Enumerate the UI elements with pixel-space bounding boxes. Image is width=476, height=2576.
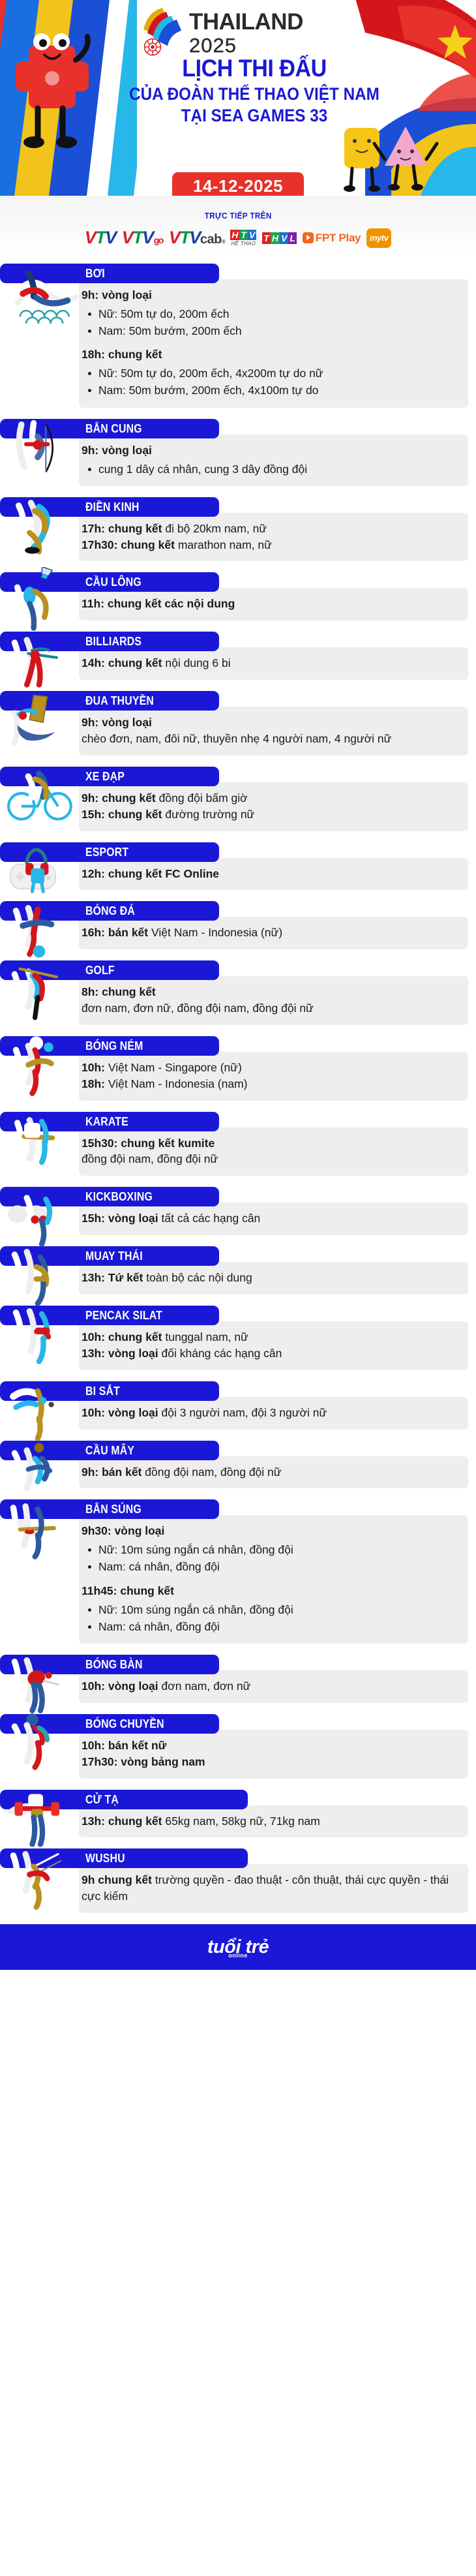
sport-events-billiards: 14h: chung kết nội dung 6 bi [79, 647, 468, 680]
vtvcab-logo: VTVcab® [169, 228, 224, 248]
sport-header-cau-may: CẦU MÂY [0, 1441, 219, 1460]
sport-events-bong-ban: 10h: vòng loại đơn nam, đơn nữ [79, 1670, 468, 1703]
sport-block-bong-ban: BÓNG BÀN10h: vòng loại đơn nam, đơn nữ [0, 1655, 476, 1703]
sport-name-label: BÓNG CHUYỀN [85, 1714, 164, 1734]
sport-header-bong-ban: BÓNG BÀN [0, 1655, 219, 1674]
date-badge: 14-12-2025 [172, 172, 304, 196]
sport-header-wushu: WUSHU [0, 1848, 248, 1868]
event-line: 11h: chung kết các nội dung [82, 596, 459, 612]
event-line: đơn nam, đơn nữ, đồng đội nam, đồng đội … [82, 1000, 459, 1017]
sport-block-cu-ta: CỬ TẠ13h: chung kết 65kg nam, 58kg nữ, 7… [0, 1790, 476, 1838]
event-group: 9h30: vòng loạiNữ: 10m súng ngắn cá nhân… [82, 1523, 459, 1575]
sport-events-bong-nem: 10h: Việt Nam - Singapore (nữ)18h: Việt … [79, 1052, 468, 1101]
event-line-bold: 10h: bán kết nữ [82, 1739, 166, 1752]
sport-block-bong-da: BÓNG ĐÁ16h: bán kết Việt Nam - Indonesia… [0, 901, 476, 949]
play-icon [303, 232, 314, 243]
sport-block-cau-may: CẦU MÂY9h: bán kết đồng đội nam, đồng độ… [0, 1441, 476, 1489]
event-line-detail: chèo đơn, nam, đôi nữ, thuyền nhẹ 4 ngườ… [82, 732, 391, 745]
event-bullet-item: Nữ: 50m tự do, 200m ếch, 4x200m tự do nữ [82, 365, 459, 382]
event-line: 15h30: chung kết kumite [82, 1135, 459, 1152]
event-lead-text: 9h: vòng loại [82, 444, 152, 457]
event-time-heading: 9h: vòng loại [82, 442, 459, 459]
event-lead-text: 9h: vòng loại [82, 288, 152, 301]
sport-name-label: BẮN SÚNG [85, 1499, 141, 1519]
event-line-bold: 17h30: vòng bảng nam [82, 1755, 205, 1768]
event-line-detail: đội 3 người nam, đội 3 người nữ [158, 1406, 327, 1419]
broadcaster-logo-row: VTV VTVgo VTVcab® HTV HỂ THAO THVL FPT P… [0, 228, 476, 248]
event-line-detail: đồng đội bấm giờ [156, 791, 248, 805]
sport-name-label: MUAY THÁI [85, 1246, 143, 1266]
event-line: 10h: vòng loại đơn nam, đơn nữ [82, 1678, 459, 1694]
thvl-logo: THVL [262, 232, 297, 244]
sport-header-kickboxing: KICKBOXING [0, 1187, 219, 1206]
schedule-list: BƠI9h: vòng loạiNữ: 50m tự do, 200m ếchN… [0, 257, 476, 1913]
sport-block-bong-nem: BÓNG NÉM10h: Việt Nam - Singapore (nữ)18… [0, 1036, 476, 1101]
event-line-detail: đồng đội nam, đồng đội nữ [82, 1152, 218, 1165]
sport-events-dien-kinh: 17h: chung kết đi bộ 20km nam, nữ17h30: … [79, 513, 468, 562]
event-time-heading: 18h: chung kết [82, 346, 459, 363]
htv-subtitle: HỂ THAO [231, 241, 256, 247]
sport-name-label: PENCAK SILAT [85, 1306, 162, 1325]
sport-name-label: WUSHU [85, 1848, 125, 1868]
event-line-detail: 65kg nam, 58kg nữ, 71kg nam [162, 1815, 320, 1828]
event-line-bold: 13h: chung kết [82, 1815, 162, 1828]
event-lead-text: 18h: chung kết [82, 348, 162, 361]
event-group: 9h: vòng loạicung 1 dây cá nhân, cung 3 … [82, 442, 459, 478]
event-bullet-list: Nữ: 50m tự do, 200m ếchNam: 50m bướm, 20… [82, 305, 459, 340]
event-line: 13h: chung kết 65kg nam, 58kg nữ, 71kg n… [82, 1813, 459, 1830]
sport-block-bong-chuyen: BÓNG CHUYỀN10h: bán kết nữ17h30: vòng bả… [0, 1714, 476, 1779]
tuoitre-logo: tuổi trẻ online [207, 1938, 269, 1957]
sport-header-esport: ESPORT [0, 842, 219, 862]
sport-header-xe-dap: XE ĐẠP [0, 767, 219, 786]
sport-block-dua-thuyen: ĐUA THUYỀN9h: vòng loạichèo đơn, nam, đô… [0, 691, 476, 756]
sport-name-label: BÓNG ĐÁ [85, 901, 135, 921]
event-line-bold: 16h: bán kết [82, 926, 148, 939]
event-line: 9h: bán kết đồng đội nam, đồng đội nữ [82, 1464, 459, 1480]
event-line-bold: 9h: bán kết [82, 1465, 141, 1479]
sport-header-ban-sung: BẮN SÚNG [0, 1499, 219, 1519]
sport-name-label: CẦU MÂY [85, 1441, 134, 1460]
event-line-detail: nội dung 6 bi [162, 656, 231, 669]
event-line-detail: đơn nam, đơn nữ [158, 1679, 251, 1693]
tuoitre-online-label: online [226, 1953, 250, 1959]
event-bullet-item: Nam: 50m bướm, 200m ếch [82, 322, 459, 339]
hero-header: THAILAND 2025 LỊCH THI ĐẤU CỦA ĐOÀN THỂ … [0, 0, 476, 196]
sport-block-ban-sung: BẮN SÚNG9h30: vòng loạiNữ: 10m súng ngắn… [0, 1499, 476, 1644]
htv-thethao-logo: HTV HỂ THAO [230, 230, 256, 247]
event-line-bold: 13h: vòng loại [82, 1347, 158, 1360]
sport-block-golf: GOLF8h: chung kếtđơn nam, đơn nữ, đồng đ… [0, 960, 476, 1025]
svg-text:THAILAND: THAILAND [189, 9, 303, 35]
sport-events-ban-sung: 9h30: vòng loạiNữ: 10m súng ngắn cá nhân… [79, 1515, 468, 1644]
event-line: chèo đơn, nam, đôi nữ, thuyền nhẹ 4 ngườ… [82, 731, 459, 747]
event-lead-text: 9h30: vòng loại [82, 1524, 164, 1537]
sport-name-label: BẮN CUNG [85, 419, 142, 438]
sport-header-billiards: BILLIARDS [0, 632, 219, 651]
event-line: 9h: chung kết đồng đội bấm giờ [82, 790, 459, 806]
event-line-bold: 10h: vòng loại [82, 1406, 158, 1419]
sport-events-bi-sat: 10h: vòng loại đội 3 người nam, đội 3 ng… [79, 1397, 468, 1430]
event-bullet-item: Nam: cá nhân, đồng đội [82, 1618, 459, 1635]
sea-games-logo: THAILAND 2025 [138, 5, 334, 56]
event-line: 17h30: chung kết marathon nam, nữ [82, 537, 459, 553]
event-line-bold: 15h30: chung kết kumite [82, 1137, 215, 1150]
event-bullet-item: Nam: cá nhân, đồng đội [82, 1558, 459, 1575]
event-line-detail: đồng đội nam, đồng đội nữ [141, 1465, 281, 1479]
event-line-bold: 18h: [82, 1077, 105, 1090]
sport-events-boi: 9h: vòng loạiNữ: 50m tự do, 200m ếchNam:… [79, 279, 468, 408]
event-line-detail: Việt Nam - Singapore (nữ) [105, 1061, 242, 1074]
sport-events-wushu: 9h chung kết trường quyền - đao thuật - … [79, 1864, 468, 1913]
sport-events-bong-da: 16h: bán kết Việt Nam - Indonesia (nữ) [79, 917, 468, 949]
sport-name-label: GOLF [85, 960, 115, 980]
sport-header-bi-sat: BI SẮT [0, 1381, 219, 1401]
infographic-page: THAILAND 2025 LỊCH THI ĐẤU CỦA ĐOÀN THỂ … [0, 0, 476, 1970]
event-line-detail: đi bộ 20km nam, nữ [162, 522, 267, 535]
event-line: 16h: bán kết Việt Nam - Indonesia (nữ) [82, 925, 459, 941]
sport-block-cau-long: CẦU LÔNG11h: chung kết các nội dung [0, 572, 476, 621]
event-line: 15h: chung kết đường trường nữ [82, 806, 459, 823]
event-group: 11h45: chung kếtNữ: 10m súng ngắn cá nhâ… [82, 1583, 459, 1635]
event-line-detail: toàn bộ các nội dung [143, 1271, 252, 1284]
sport-header-cu-ta: CỬ TẠ [0, 1790, 248, 1809]
sport-name-label: BƠI [85, 264, 105, 283]
sport-events-karate: 15h30: chung kết kumiteđồng đội nam, đồn… [79, 1127, 468, 1176]
sport-block-bi-sat: BI SẮT10h: vòng loại đội 3 người nam, độ… [0, 1381, 476, 1430]
fpt-play-logo: FPT Play [303, 232, 361, 245]
sport-block-kickboxing: KICKBOXING15h: vòng loại tất cả các hạng… [0, 1187, 476, 1235]
event-bullet-item: Nữ: 50m tự do, 200m ếch [82, 305, 459, 322]
sport-header-cau-long: CẦU LÔNG [0, 572, 219, 592]
sport-events-muay-thai: 13h: Tứ kết toàn bộ các nội dung [79, 1262, 468, 1295]
vtv-logo: VTV [85, 228, 116, 248]
sport-header-bong-nem: BÓNG NÉM [0, 1036, 219, 1056]
event-line: 13h: Tứ kết toàn bộ các nội dung [82, 1270, 459, 1286]
event-line-detail: tất cả các hạng cân [158, 1212, 261, 1225]
sport-name-label: KARATE [85, 1112, 128, 1131]
event-line: 18h: Việt Nam - Indonesia (nam) [82, 1076, 459, 1092]
sport-events-cau-may: 9h: bán kết đồng đội nam, đồng đội nữ [79, 1456, 468, 1489]
event-time-heading: 11h45: chung kết [82, 1583, 459, 1599]
sport-block-esport: ESPORT12h: chung kết FC Online [0, 842, 476, 891]
svg-text:2025: 2025 [189, 34, 237, 56]
event-line: 12h: chung kết FC Online [82, 866, 459, 882]
sport-name-label: ĐIỀN KINH [85, 497, 140, 517]
sport-header-boi: BƠI [0, 264, 219, 283]
sport-block-karate: KARATE15h30: chung kết kumiteđồng đội na… [0, 1112, 476, 1176]
sport-block-dien-kinh: ĐIỀN KINH17h: chung kết đi bộ 20km nam, … [0, 497, 476, 562]
event-line-bold: 9h: vòng loại [82, 716, 152, 729]
sport-header-bong-chuyen: BÓNG CHUYỀN [0, 1714, 219, 1734]
sport-events-dua-thuyen: 9h: vòng loạichèo đơn, nam, đôi nữ, thuy… [79, 707, 468, 756]
event-line: 10h: bán kết nữ [82, 1738, 459, 1754]
event-line-bold: 10h: vòng loại [82, 1679, 158, 1693]
event-line: 10h: Việt Nam - Singapore (nữ) [82, 1060, 459, 1076]
sport-name-label: BÓNG BÀN [85, 1655, 143, 1674]
event-line-bold: 17h30: chung kết [82, 538, 175, 551]
broadcast-strip: TRỰC TIẾP TRÊN VTV VTVgo VTVcab® HTV HỂ … [0, 196, 476, 257]
sport-header-pencak-silat: PENCAK SILAT [0, 1306, 219, 1325]
sport-name-label: BÓNG NÉM [85, 1036, 143, 1056]
event-line: 14h: chung kết nội dung 6 bi [82, 655, 459, 671]
event-line-bold: 15h: vòng loại [82, 1212, 158, 1225]
event-line-bold: 17h: chung kết [82, 522, 162, 535]
event-line: 9h chung kết trường quyền - đao thuật - … [82, 1872, 459, 1905]
sport-header-dua-thuyen: ĐUA THUYỀN [0, 691, 219, 711]
mytv-logo: mytv [366, 228, 391, 248]
page-title: LỊCH THI ĐẤU [80, 56, 428, 80]
event-line-detail: Việt Nam - Indonesia (nữ) [148, 926, 282, 939]
event-line: 17h: chung kết đi bộ 20km nam, nữ [82, 521, 459, 537]
sport-block-muay-thai: MUAY THÁI13h: Tứ kết toàn bộ các nội dun… [0, 1246, 476, 1295]
sport-header-ban-cung: BẮN CUNG [0, 419, 219, 438]
event-lead-text: 11h45: chung kết [82, 1584, 174, 1597]
sport-header-golf: GOLF [0, 960, 219, 980]
sport-header-karate: KARATE [0, 1112, 219, 1131]
event-line-detail: đối kháng các hạng cân [158, 1347, 282, 1360]
event-bullet-list: cung 1 dây cá nhân, cung 3 dây đồng đội [82, 461, 459, 478]
event-line: đồng đội nam, đồng đội nữ [82, 1151, 459, 1167]
event-line-detail: Việt Nam - Indonesia (nam) [105, 1077, 248, 1090]
footer: tuổi trẻ online [0, 1924, 476, 1970]
event-line-bold: 13h: Tứ kết [82, 1271, 143, 1284]
sport-header-bong-da: BÓNG ĐÁ [0, 901, 219, 921]
event-bullet-item: cung 1 dây cá nhân, cung 3 dây đồng đội [82, 461, 459, 478]
sport-header-dien-kinh: ĐIỀN KINH [0, 497, 219, 517]
sport-name-label: XE ĐẠP [85, 767, 125, 786]
event-group: 9h: vòng loạiNữ: 50m tự do, 200m ếchNam:… [82, 287, 459, 339]
sport-events-pencak-silat: 10h: chung kết tunggal nam, nữ13h: vòng … [79, 1321, 468, 1370]
sport-name-label: BILLIARDS [85, 632, 141, 651]
event-time-heading: 9h: vòng loại [82, 287, 459, 303]
page-subtitle-2: TẠI SEA GAMES 33 [84, 106, 424, 126]
event-time-heading: 9h30: vòng loại [82, 1523, 459, 1539]
event-line-bold: 8h: chung kết [82, 985, 156, 998]
event-line-detail: tunggal nam, nữ [162, 1330, 248, 1343]
sport-events-esport: 12h: chung kết FC Online [79, 858, 468, 891]
sport-block-billiards: BILLIARDS14h: chung kết nội dung 6 bi [0, 632, 476, 680]
event-line-detail: đơn nam, đơn nữ, đồng đội nam, đồng đội … [82, 1002, 314, 1015]
event-line-bold: 12h: chung kết FC Online [82, 867, 219, 880]
event-line: 15h: vòng loại tất cả các hạng cân [82, 1210, 459, 1227]
sport-name-label: KICKBOXING [85, 1187, 153, 1206]
sport-block-boi: BƠI9h: vòng loạiNữ: 50m tự do, 200m ếchN… [0, 264, 476, 408]
sport-name-label: BI SẮT [85, 1381, 120, 1401]
event-bullet-item: Nữ: 10m súng ngắn cá nhân, đồng đội [82, 1601, 459, 1618]
page-subtitle-1: CỦA ĐOÀN THỂ THAO VIỆT NAM [84, 84, 424, 104]
event-line-bold: 11h: chung kết các nội dung [82, 597, 235, 610]
vtvgo-logo: VTVgo [122, 228, 163, 248]
event-line: 10h: chung kết tunggal nam, nữ [82, 1329, 459, 1345]
sport-block-ban-cung: BẮN CUNG9h: vòng loạicung 1 dây cá nhân,… [0, 419, 476, 486]
broadcast-label: TRỰC TIẾP TRÊN [205, 211, 272, 221]
event-bullet-list: Nữ: 10m súng ngắn cá nhân, đồng độiNam: … [82, 1601, 459, 1636]
fpt-play-label: FPT Play [316, 232, 361, 245]
event-line-bold: 10h: chung kết [82, 1330, 162, 1343]
event-line: 8h: chung kết [82, 984, 459, 1000]
event-line-detail: marathon nam, nữ [175, 538, 272, 551]
hero-title-block: LỊCH THI ĐẤU CỦA ĐOÀN THỂ THAO VIỆT NAM … [65, 56, 443, 126]
sport-events-golf: 8h: chung kếtđơn nam, đơn nữ, đồng đội n… [79, 976, 468, 1025]
event-bullet-list: Nữ: 10m súng ngắn cá nhân, đồng độiNam: … [82, 1541, 459, 1576]
event-bullet-item: Nữ: 10m súng ngắn cá nhân, đồng đội [82, 1541, 459, 1558]
event-line: 10h: vòng loại đội 3 người nam, đội 3 ng… [82, 1405, 459, 1421]
event-line: 17h30: vòng bảng nam [82, 1754, 459, 1770]
sport-name-label: CỬ TẠ [85, 1790, 119, 1809]
sport-block-xe-dap: XE ĐẠP9h: chung kết đồng đội bấm giờ15h:… [0, 767, 476, 831]
sport-events-cau-long: 11h: chung kết các nội dung [79, 588, 468, 621]
event-line-bold: 9h: chung kết [82, 791, 156, 805]
event-line: 13h: vòng loại đối kháng các hạng cân [82, 1345, 459, 1362]
event-line: 9h: vòng loại [82, 714, 459, 731]
sport-name-label: CẦU LÔNG [85, 572, 141, 592]
sport-events-kickboxing: 15h: vòng loại tất cả các hạng cân [79, 1203, 468, 1235]
event-line-bold: 10h: [82, 1061, 105, 1074]
sport-events-ban-cung: 9h: vòng loạicung 1 dây cá nhân, cung 3 … [79, 435, 468, 486]
sport-name-label: ESPORT [85, 842, 128, 862]
sport-events-bong-chuyen: 10h: bán kết nữ17h30: vòng bảng nam [79, 1730, 468, 1779]
event-group: 18h: chung kếtNữ: 50m tự do, 200m ếch, 4… [82, 346, 459, 399]
event-bullet-list: Nữ: 50m tự do, 200m ếch, 4x200m tự do nữ… [82, 365, 459, 399]
event-line-detail: đường trường nữ [162, 808, 255, 821]
sport-name-label: ĐUA THUYỀN [85, 691, 154, 711]
sport-events-cu-ta: 13h: chung kết 65kg nam, 58kg nữ, 71kg n… [79, 1805, 468, 1838]
event-line-bold: 15h: chung kết [82, 808, 162, 821]
event-line-bold: 9h chung kết [82, 1873, 152, 1886]
sport-events-xe-dap: 9h: chung kết đồng đội bấm giờ15h: chung… [79, 782, 468, 831]
sport-header-muay-thai: MUAY THÁI [0, 1246, 219, 1266]
event-bullet-item: Nam: 50m bướm, 200m ếch, 4x100m tự do [82, 382, 459, 399]
sport-block-wushu: WUSHU9h chung kết trường quyền - đao thu… [0, 1848, 476, 1913]
event-line-bold: 14h: chung kết [82, 656, 162, 669]
sport-block-pencak-silat: PENCAK SILAT10h: chung kết tunggal nam, … [0, 1306, 476, 1370]
